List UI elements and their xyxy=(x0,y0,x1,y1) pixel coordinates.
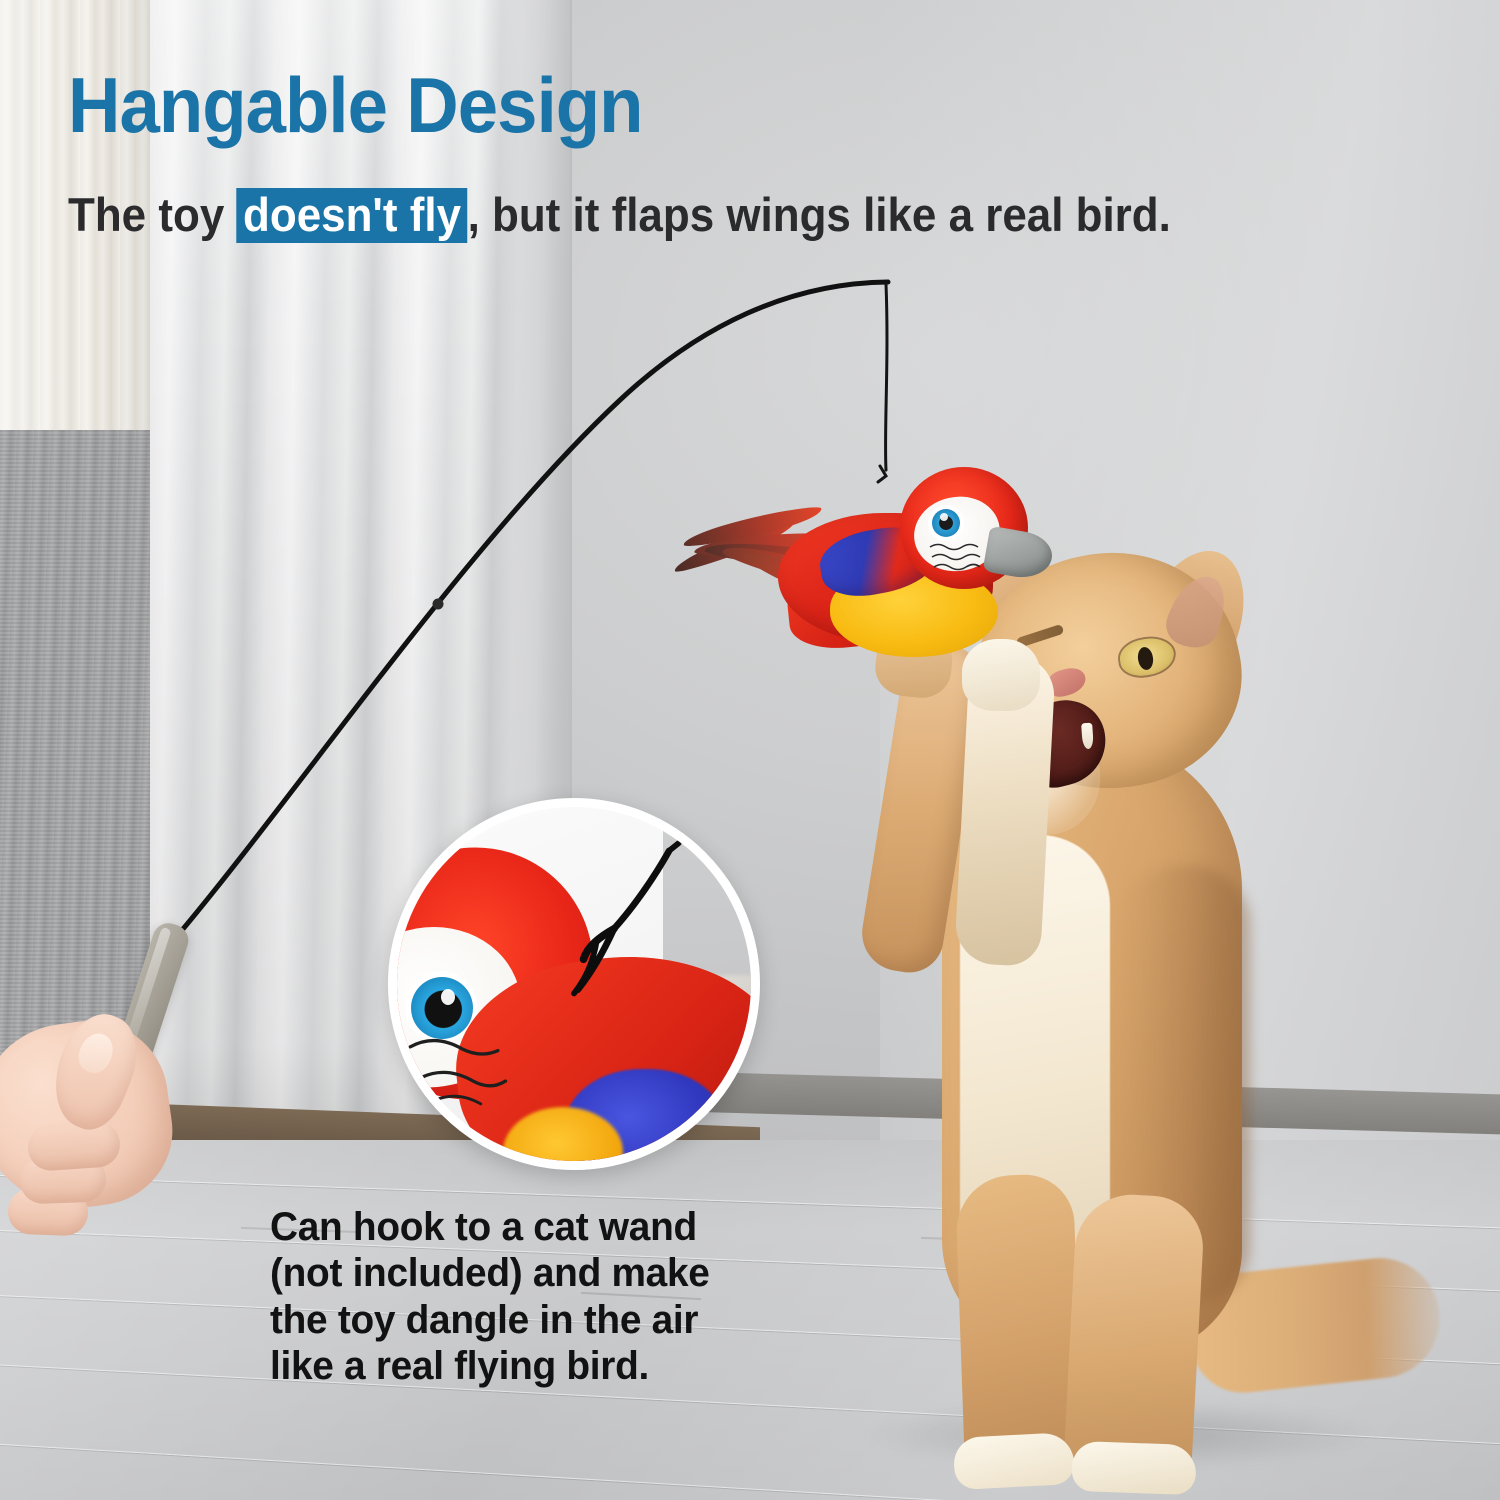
parrot-toy xyxy=(660,455,1040,685)
feature-caption: Can hook to a cat wand (not included) an… xyxy=(270,1204,710,1390)
caption-line-2: (not included) and make xyxy=(270,1251,710,1295)
human-hand xyxy=(0,1005,210,1235)
cat-hind-paw-right xyxy=(1071,1441,1197,1495)
scene-stage: Hangable Design The toy doesn't fly, but… xyxy=(0,0,1500,1500)
inset-content xyxy=(397,807,751,1161)
page-title: Hangable Design xyxy=(68,66,643,144)
caption-line-1: Can hook to a cat wand xyxy=(270,1205,697,1249)
parrot-eye-glint xyxy=(940,513,948,521)
subtitle-prefix: The toy xyxy=(68,188,236,241)
hand-finger xyxy=(27,1120,122,1172)
caption-line-3: the toy dangle in the air xyxy=(270,1298,698,1342)
subtitle: The toy doesn't fly, but it flaps wings … xyxy=(68,188,1171,243)
caption-line-4: like a real flying bird. xyxy=(270,1344,649,1388)
subtitle-highlight: doesn't fly xyxy=(236,188,467,243)
cat-hind-leg-left xyxy=(955,1173,1083,1477)
parrot-face-line-detail xyxy=(928,541,998,577)
subtitle-suffix: , but it flaps wings like a real bird. xyxy=(468,188,1171,241)
inset-face-line-detail xyxy=(397,807,751,1161)
cat-hind-paw-left xyxy=(953,1432,1076,1490)
closeup-inset-circle xyxy=(388,798,760,1170)
